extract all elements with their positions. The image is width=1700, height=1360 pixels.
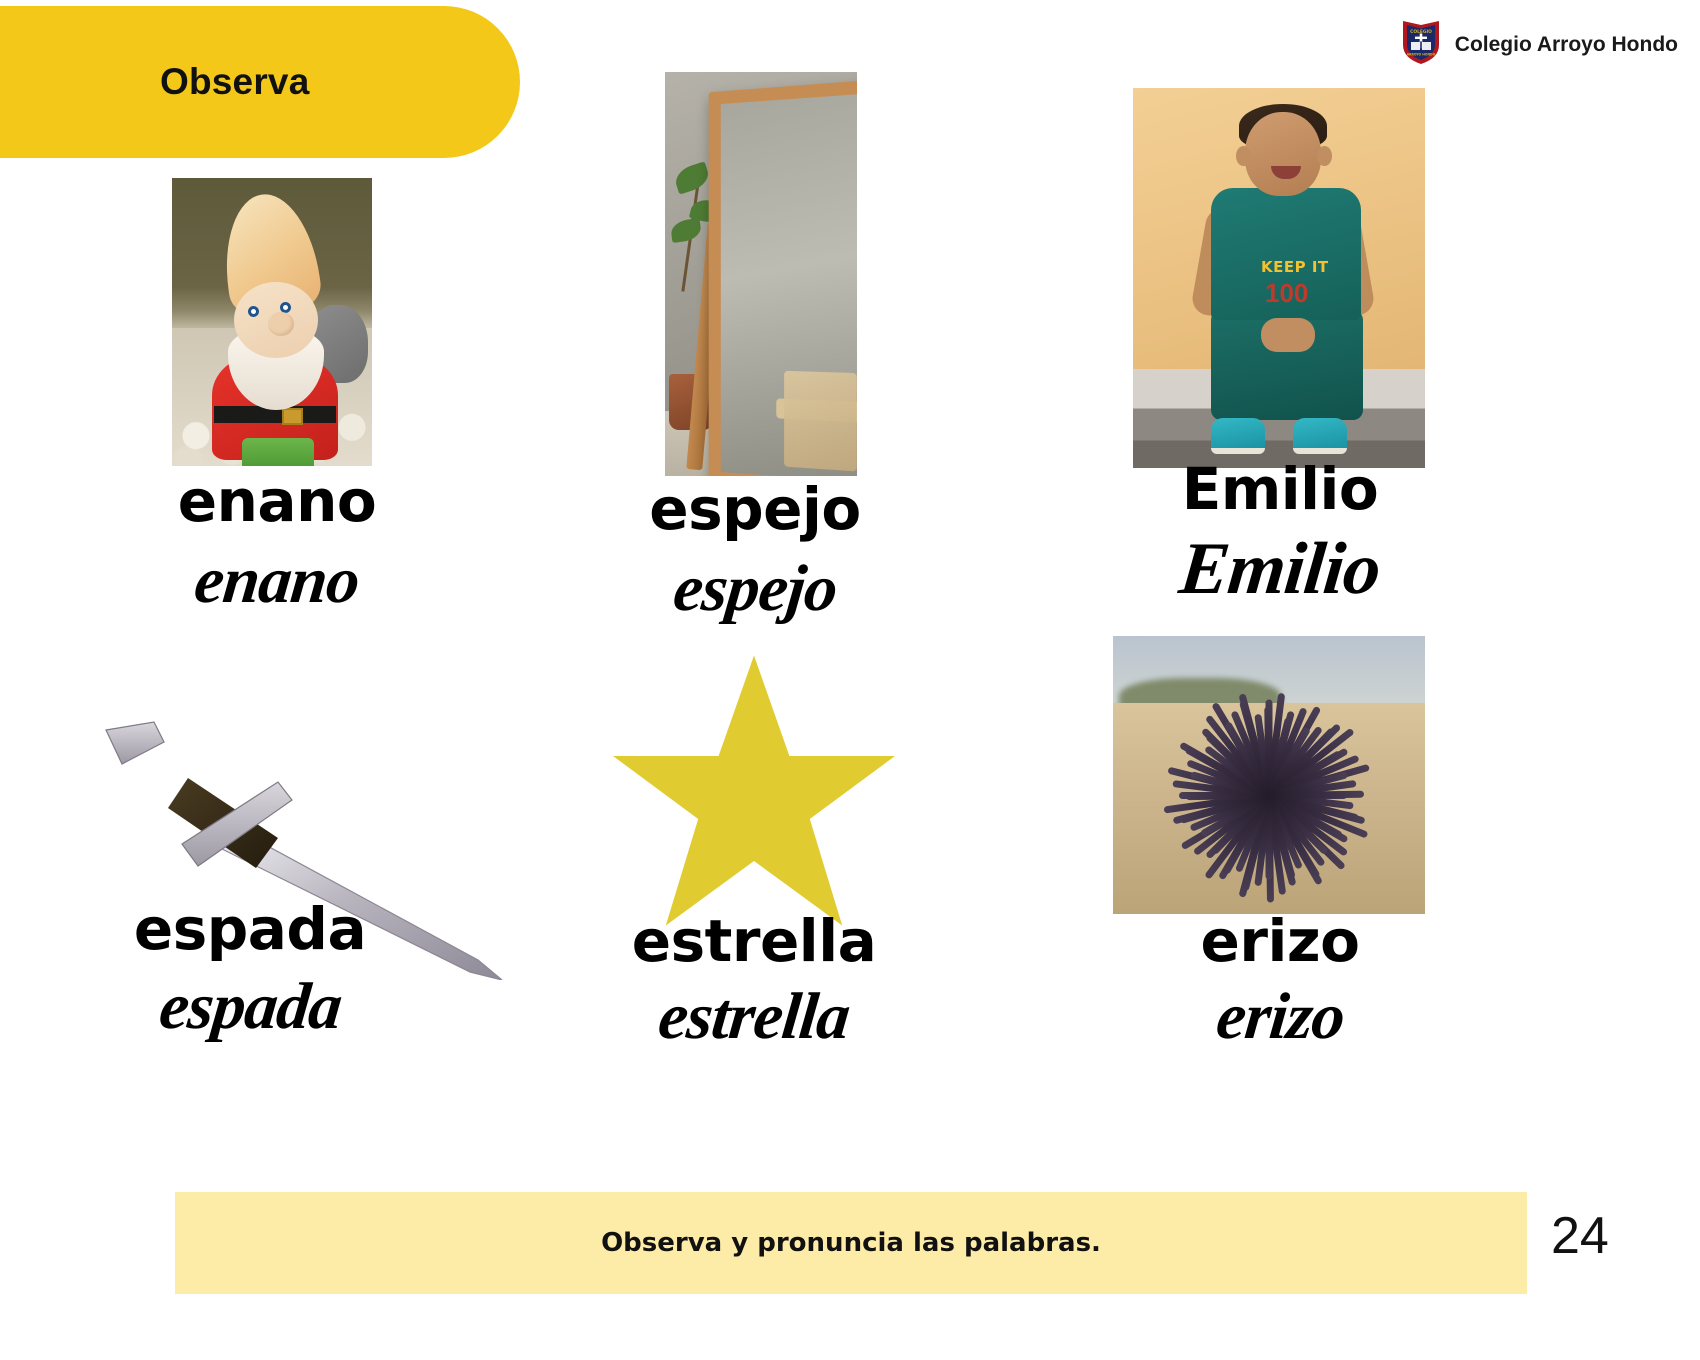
word-script-espejo: espejo xyxy=(670,556,840,622)
garden-gnome-photo xyxy=(172,178,372,466)
word-cell-enano: enano enano xyxy=(92,472,462,614)
svg-text:ARROYO HONDO: ARROYO HONDO xyxy=(1407,53,1436,57)
school-crest-shield-icon: COLEGIO ARROYO HONDO xyxy=(1401,18,1441,71)
word-script-espada: espada xyxy=(156,974,344,1040)
word-script-enano: enano xyxy=(192,548,363,614)
page-number: 24 xyxy=(1551,1206,1609,1266)
word-cell-estrella: estrella estrella xyxy=(570,912,938,1050)
shirt-text-line2: 100 xyxy=(1265,278,1308,309)
worksheet-page: Observa COLEGIO ARROYO HONDO Colegio Arr… xyxy=(0,0,1700,1360)
five-pointed-star-shape xyxy=(604,646,904,938)
word-script-estrella: estrella xyxy=(656,984,853,1050)
instruction-bar: Observa y pronuncia las palabras. xyxy=(175,1192,1527,1294)
observa-banner-label: Observa xyxy=(160,61,310,103)
standing-mirror-photo xyxy=(665,72,857,476)
word-cell-emilio: Emilio Emilio xyxy=(1100,460,1460,606)
word-script-emilio: Emilio xyxy=(1176,532,1383,606)
sea-urchin-photo xyxy=(1113,636,1425,914)
shirt-text-line1: KEEP IT xyxy=(1261,258,1329,276)
word-print-espejo: espejo xyxy=(649,480,860,538)
school-brand: COLEGIO ARROYO HONDO Colegio Arroyo Hond… xyxy=(1401,18,1678,71)
instruction-text: Observa y pronuncia las palabras. xyxy=(601,1228,1101,1258)
word-script-erizo: erizo xyxy=(1213,984,1347,1050)
word-print-emilio: Emilio xyxy=(1182,460,1379,518)
observa-banner: Observa xyxy=(0,6,520,158)
word-cell-espejo: espejo espejo xyxy=(580,480,930,622)
school-name-label: Colegio Arroyo Hondo xyxy=(1455,33,1678,57)
word-print-enano: enano xyxy=(178,472,376,530)
word-cell-erizo: erizo erizo xyxy=(1100,912,1460,1050)
word-cell-espada: espada espada xyxy=(60,900,440,1040)
smiling-boy-photo: KEEP IT 100 xyxy=(1133,88,1425,468)
word-print-espada: espada xyxy=(134,900,366,958)
word-print-estrella: estrella xyxy=(632,912,876,970)
word-print-erizo: erizo xyxy=(1201,912,1360,970)
